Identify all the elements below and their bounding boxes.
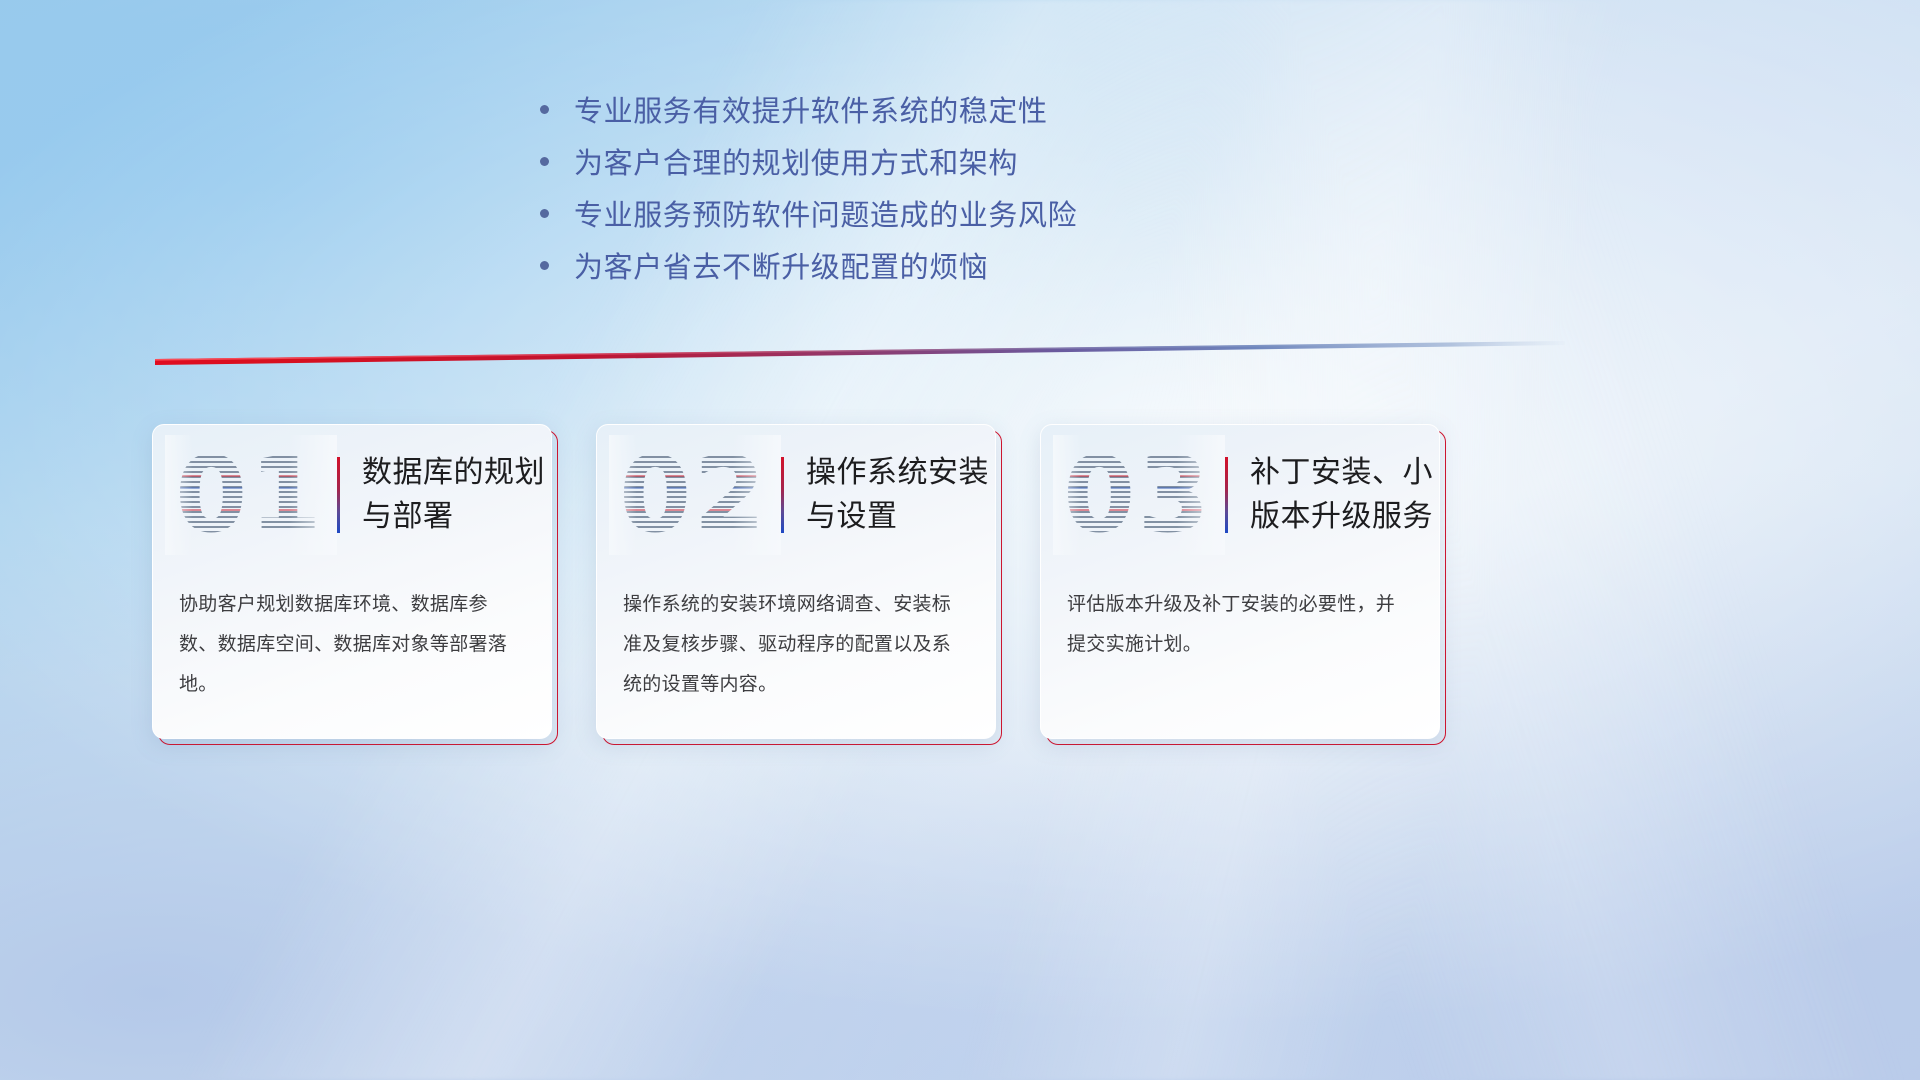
title-accent-bar	[337, 457, 340, 533]
card-number-graphic: 03 03 03	[1063, 441, 1215, 549]
list-item: 为客户合理的规划使用方式和架构	[540, 140, 1420, 192]
card-number-graphic: 01 01 01	[175, 441, 327, 549]
card-surface: 01 01 01 数据库的规划与部署 协助客户规划数据库环境、数据库参数、数据库…	[152, 424, 552, 739]
card-body: 操作系统的安装环境网络调查、安装标准及复核步骤、驱动程序的配置以及系统的设置等内…	[597, 565, 995, 705]
section-divider	[145, 332, 1565, 374]
card-title: 补丁安装、小版本升级服务	[1250, 451, 1439, 539]
card-surface: 03 03 03 补丁安装、小版本升级服务 评估版本升级及补丁安装的必要性，并提…	[1040, 424, 1440, 739]
list-item: 为客户省去不断升级配置的烦恼	[540, 244, 1420, 296]
service-card-row: 01 01 01 数据库的规划与部署 协助客户规划数据库环境、数据库参数、数据库…	[152, 424, 1772, 744]
bullet-text: 专业服务有效提升软件系统的稳定性	[574, 88, 1048, 130]
card-surface: 02 02 02 操作系统安装与设置 操作系统的安装环境网络调查、安装标准及复核…	[596, 424, 996, 739]
service-card[interactable]: 01 01 01 数据库的规划与部署 协助客户规划数据库环境、数据库参数、数据库…	[152, 424, 552, 739]
card-number-blue-accent: 02	[619, 441, 771, 549]
bullet-dot-icon	[540, 201, 574, 227]
tapered-divider-icon	[145, 332, 1565, 374]
bullet-text: 专业服务预防软件问题造成的业务风险	[574, 192, 1077, 234]
list-item: 专业服务预防软件问题造成的业务风险	[540, 192, 1420, 244]
card-number-blue-accent: 03	[1063, 441, 1215, 549]
slide-canvas: 专业服务有效提升软件系统的稳定性 为客户合理的规划使用方式和架构 专业服务预防软…	[0, 0, 1920, 1080]
title-accent-bar	[1225, 457, 1228, 533]
card-number-blue-accent: 01	[175, 441, 327, 549]
service-card[interactable]: 03 03 03 补丁安装、小版本升级服务 评估版本升级及补丁安装的必要性，并提…	[1040, 424, 1440, 739]
benefits-bullet-list: 专业服务有效提升软件系统的稳定性 为客户合理的规划使用方式和架构 专业服务预防软…	[540, 88, 1420, 296]
card-title: 数据库的规划与部署	[362, 451, 551, 539]
card-header: 03 03 03 补丁安装、小版本升级服务	[1041, 425, 1439, 565]
card-number-graphic: 02 02 02	[619, 441, 771, 549]
bullet-dot-icon	[540, 253, 574, 279]
card-title: 操作系统安装与设置	[806, 451, 995, 539]
card-header: 01 01 01 数据库的规划与部署	[153, 425, 551, 565]
bullet-dot-icon	[540, 149, 574, 175]
card-body: 评估版本升级及补丁安装的必要性，并提交实施计划。	[1041, 565, 1439, 665]
bullet-dot-icon	[540, 97, 574, 123]
service-card[interactable]: 02 02 02 操作系统安装与设置 操作系统的安装环境网络调查、安装标准及复核…	[596, 424, 996, 739]
list-item: 专业服务有效提升软件系统的稳定性	[540, 88, 1420, 140]
title-accent-bar	[781, 457, 784, 533]
bullet-text: 为客户合理的规划使用方式和架构	[574, 140, 1018, 182]
card-body-text: 操作系统的安装环境网络调查、安装标准及复核步骤、驱动程序的配置以及系统的设置等内…	[623, 585, 965, 705]
card-header: 02 02 02 操作系统安装与设置	[597, 425, 995, 565]
card-body-text: 协助客户规划数据库环境、数据库参数、数据库空间、数据库对象等部署落地。	[179, 585, 521, 705]
card-body-text: 评估版本升级及补丁安装的必要性，并提交实施计划。	[1067, 585, 1409, 665]
bullet-text: 为客户省去不断升级配置的烦恼	[574, 244, 988, 286]
card-body: 协助客户规划数据库环境、数据库参数、数据库空间、数据库对象等部署落地。	[153, 565, 551, 705]
